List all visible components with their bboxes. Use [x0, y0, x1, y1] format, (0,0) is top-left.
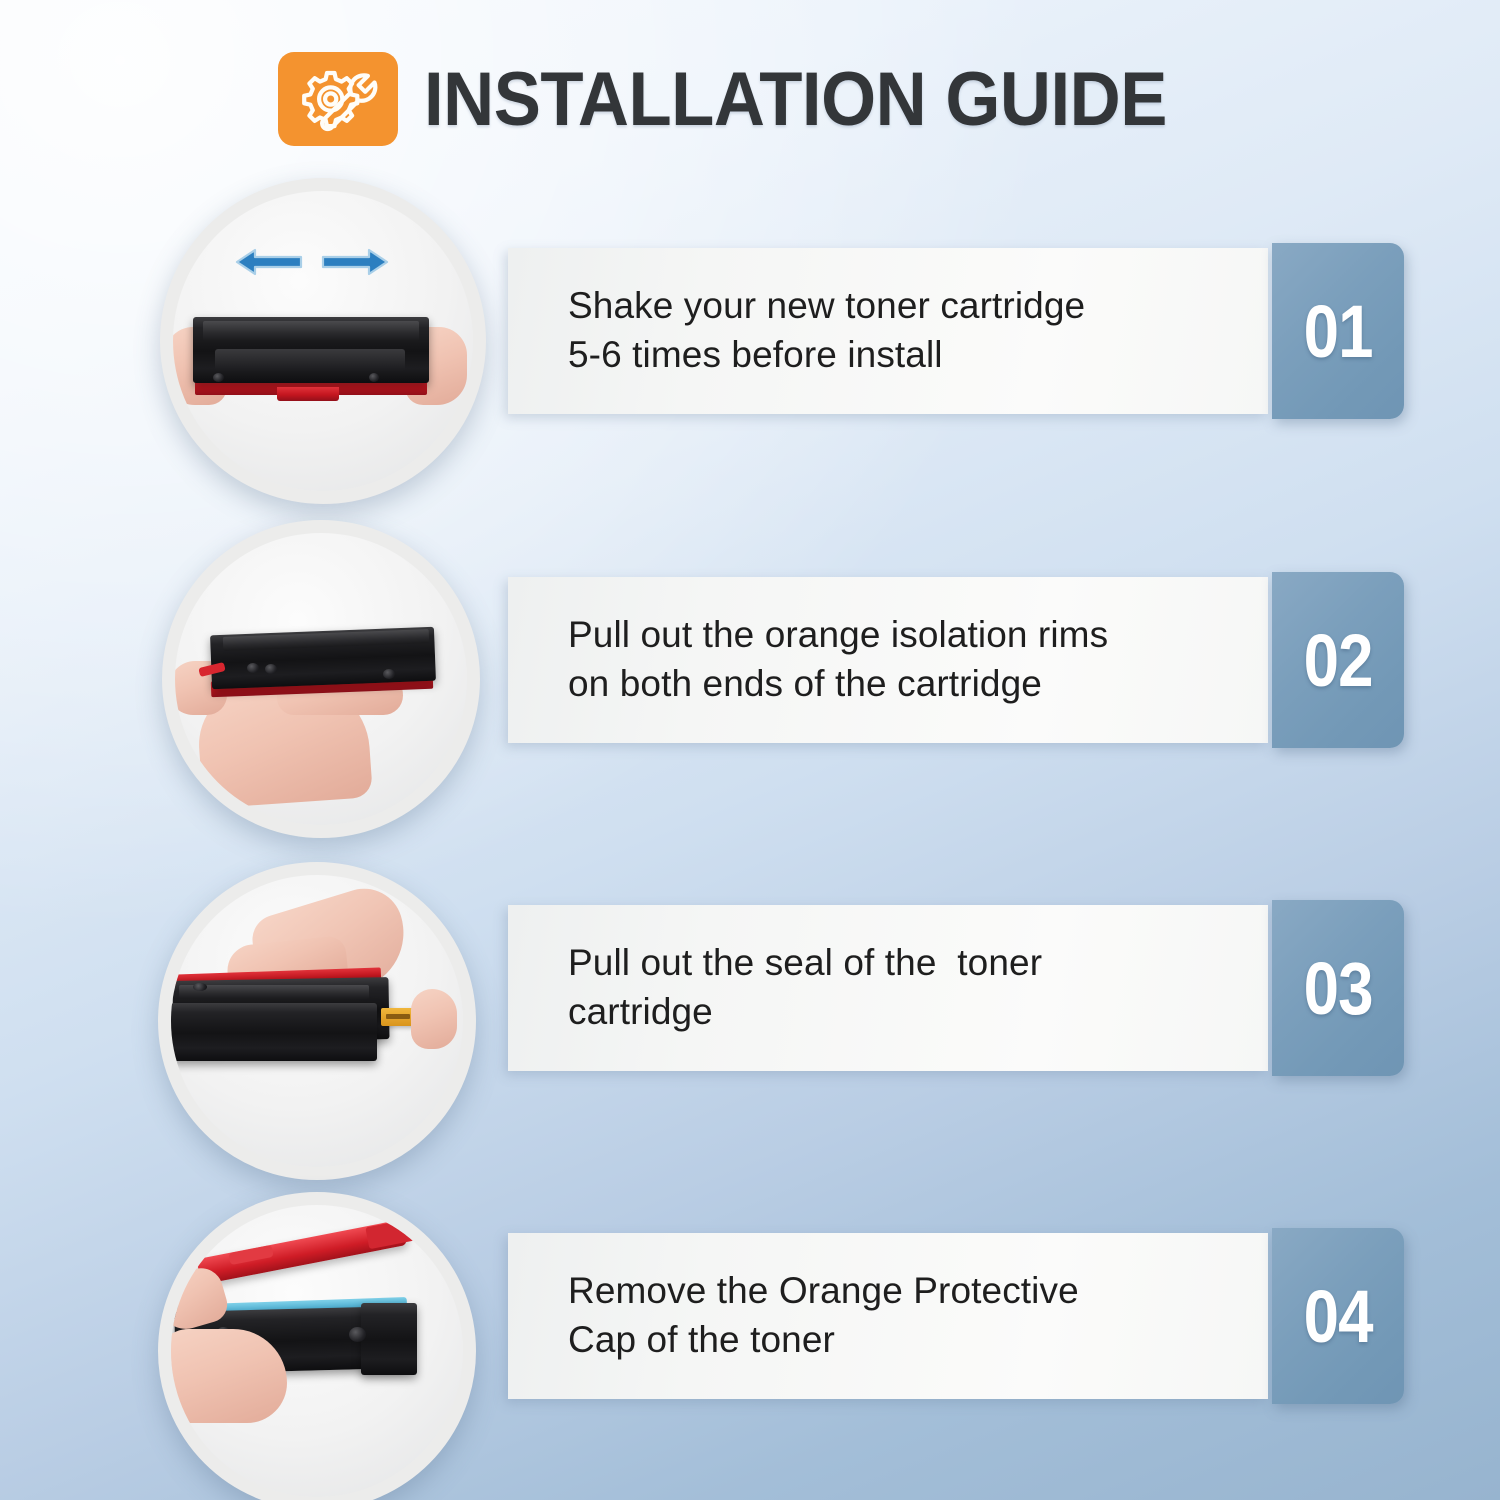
step-card-body: Shake your new toner cartridge 5-6 times… — [508, 248, 1268, 414]
step-card-2[interactable]: Pull out the orange isolation rims on bo… — [508, 572, 1404, 748]
cartridge-dot — [383, 669, 395, 679]
installation-guide-page: INSTALLATION GUIDE — [0, 0, 1500, 1500]
hand-holding — [171, 1329, 287, 1423]
step-photo-3 — [158, 862, 476, 1180]
step-number-badge: 03 — [1272, 900, 1404, 1076]
step-photo-2 — [162, 520, 480, 838]
toner-cartridge-protective-cap-photo — [171, 1205, 463, 1497]
toner-cartridge-shake-photo — [173, 191, 473, 491]
cartridge-end-cap — [361, 1303, 417, 1375]
step-text: Remove the Orange Protective Cap of the … — [508, 1267, 1097, 1365]
step-text: Shake your new toner cartridge 5-6 times… — [508, 282, 1103, 380]
cartridge-dot — [247, 663, 259, 673]
step-card-body: Pull out the seal of the toner cartridge — [508, 905, 1268, 1071]
step-number: 02 — [1303, 618, 1372, 703]
protective-cap-end — [365, 1219, 414, 1249]
cartridge-top-rail — [203, 321, 419, 341]
toner-cartridge-isolation-rims-photo — [175, 533, 467, 825]
step-card-4[interactable]: Remove the Orange Protective Cap of the … — [508, 1228, 1404, 1404]
page-title: INSTALLATION GUIDE — [424, 56, 1167, 143]
step-number: 03 — [1303, 946, 1372, 1031]
cartridge-dot — [369, 373, 379, 382]
page-header: INSTALLATION GUIDE — [0, 44, 1500, 154]
step-number: 01 — [1303, 289, 1372, 374]
cartridge-dot — [213, 373, 224, 382]
cartridge-dot — [349, 1327, 366, 1342]
step-number-badge: 02 — [1272, 572, 1404, 748]
toner-cartridge-seal-photo — [171, 875, 463, 1167]
step-photo-4 — [158, 1192, 476, 1500]
gear-wrench-icon — [278, 52, 398, 146]
step-number: 04 — [1303, 1274, 1372, 1359]
seal-tab-stripe — [386, 1014, 410, 1019]
cartridge-body-lower — [171, 1003, 377, 1061]
step-card-body: Pull out the orange isolation rims on bo… — [508, 577, 1268, 743]
step-text: Pull out the orange isolation rims on bo… — [508, 611, 1126, 709]
step-photo-1 — [160, 178, 486, 504]
step-number-badge: 04 — [1272, 1228, 1404, 1404]
arrow-left-icon — [235, 247, 303, 282]
cartridge-center-block — [215, 349, 405, 371]
cartridge-red-tab — [277, 387, 339, 401]
step-number-badge: 01 — [1272, 243, 1404, 419]
cartridge-top-rail — [179, 985, 369, 999]
cartridge-dot — [193, 983, 207, 991]
arrow-right-icon — [321, 247, 389, 282]
hand-pulling-seal — [411, 989, 457, 1049]
step-card-body: Remove the Orange Protective Cap of the … — [508, 1233, 1268, 1399]
cartridge-dot — [265, 664, 277, 674]
step-text: Pull out the seal of the toner cartridge — [508, 939, 1060, 1037]
step-card-1[interactable]: Shake your new toner cartridge 5-6 times… — [508, 243, 1404, 419]
step-card-3[interactable]: Pull out the seal of the toner cartridge… — [508, 900, 1404, 1076]
